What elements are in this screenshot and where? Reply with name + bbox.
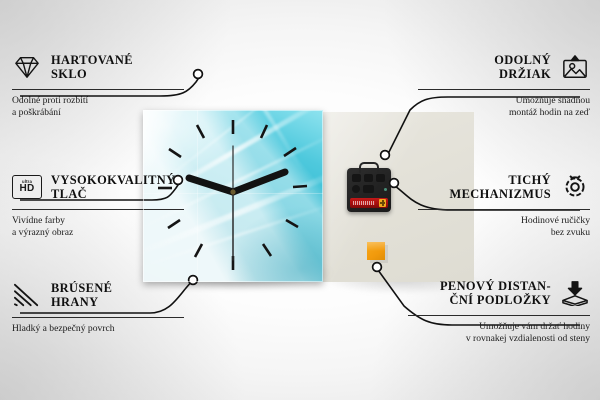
diamond-icon bbox=[12, 54, 42, 80]
infographic-canvas: HARTOVANÉ SKLO Odolné proti rozbití a po… bbox=[0, 0, 600, 400]
feature-description: Hodinové ručičky bez zvuku bbox=[418, 215, 590, 238]
feature-divider bbox=[418, 209, 590, 210]
feature-beveled-edges[interactable]: BRÚSENÉ HRANY Hladký a bezpečný povrch bbox=[12, 278, 184, 335]
feature-header: TICHÝ MECHANIZMUS bbox=[418, 170, 590, 204]
connector-dot-right-1 bbox=[381, 151, 390, 160]
feature-header: PENOVÝ DISTAN- ČNÍ PODLOŽKY bbox=[408, 276, 590, 310]
feature-foam-spacers[interactable]: PENOVÝ DISTAN- ČNÍ PODLOŽKY Umožňuje vám… bbox=[408, 276, 590, 344]
feature-header: ODOLNÝ DRŽIAK bbox=[418, 50, 590, 84]
ultra-hd-large-label: HD bbox=[19, 184, 34, 194]
hands-hub bbox=[230, 189, 235, 194]
minute-hand bbox=[233, 172, 285, 192]
feature-description: Umožňuje vám držať hodiny v rovnakej vzd… bbox=[408, 321, 590, 344]
feature-divider bbox=[418, 89, 590, 90]
feature-divider bbox=[408, 315, 590, 316]
feature-durable-hanger[interactable]: ODOLNÝ DRŽIAK Umožňuje snadnou montáž ho… bbox=[418, 50, 590, 118]
connector-dot-left-1 bbox=[194, 70, 203, 79]
feature-title: PENOVÝ DISTAN- ČNÍ PODLOŽKY bbox=[440, 279, 551, 308]
feature-title: BRÚSENÉ HRANY bbox=[51, 281, 112, 310]
foam-spacer-icon bbox=[560, 280, 590, 306]
wall-hanger-icon bbox=[560, 54, 590, 80]
gear-icon bbox=[560, 174, 590, 200]
clock-hands bbox=[143, 110, 323, 282]
feature-divider bbox=[12, 89, 184, 90]
feature-silent-mechanism[interactable]: TICHÝ MECHANIZMUS Hodinové ručičky bez z… bbox=[418, 170, 590, 238]
feature-description: Umožňuje snadnou montáž hodin na zeď bbox=[418, 95, 590, 118]
connector-dot-right-3 bbox=[373, 263, 382, 272]
feature-title: HARTOVANÉ SKLO bbox=[51, 53, 133, 82]
feature-title: TICHÝ MECHANIZMUS bbox=[450, 173, 551, 202]
feature-description: Hladký a bezpečný povrch bbox=[12, 323, 184, 335]
hour-hand bbox=[189, 178, 233, 192]
connector-dot-right-2 bbox=[390, 179, 399, 188]
feature-title: ODOLNÝ DRŽIAK bbox=[494, 53, 551, 82]
ultra-hd-icon: ultra HD bbox=[12, 175, 42, 199]
glass-clock-face bbox=[143, 110, 323, 282]
feature-header: HARTOVANÉ SKLO bbox=[12, 50, 184, 84]
feature-hardened-glass[interactable]: HARTOVANÉ SKLO Odolné proti rozbití a po… bbox=[12, 50, 184, 118]
feature-header: BRÚSENÉ HRANY bbox=[12, 278, 184, 312]
feature-divider bbox=[12, 317, 184, 318]
beveled-edge-icon bbox=[12, 282, 42, 308]
